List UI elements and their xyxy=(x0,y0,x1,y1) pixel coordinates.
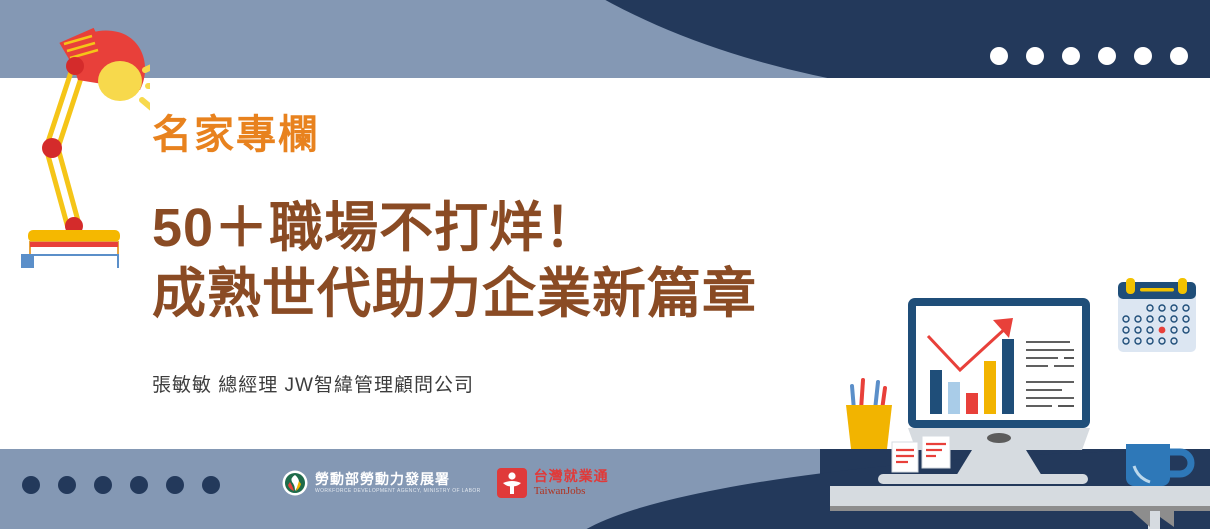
article-banner: 名家專欄 50＋職場不打烊！ 成熟世代助力企業新篇章 張敏敏 總經理 JW智緯管… xyxy=(0,0,1210,529)
page-title-line1: 50＋職場不打烊！ xyxy=(152,196,912,262)
taiwanjobs-name-en: TaiwanJobs xyxy=(534,485,609,497)
calendar-icon xyxy=(1118,278,1196,352)
decor-dot xyxy=(202,476,220,494)
bottom-dot-row xyxy=(22,476,220,494)
decor-dot xyxy=(1062,47,1080,65)
logo-workforce-development-agency[interactable]: 勞動部勞動力發展署 WORKFORCE DEVELOPMENT AGENCY, … xyxy=(282,470,481,496)
wda-name-cn: 勞動部勞動力發展署 xyxy=(315,472,481,487)
author-byline: 張敏敏 總經理 JW智緯管理顧問公司 xyxy=(152,370,912,397)
top-dot-row xyxy=(990,47,1188,65)
taiwanjobs-name-cn: 台灣就業通 xyxy=(534,469,609,484)
taiwanjobs-icon xyxy=(497,468,527,498)
decor-dot xyxy=(58,476,76,494)
kicker-label: 名家專欄 xyxy=(152,112,912,158)
banner-text-block: 名家專欄 50＋職場不打烊！ 成熟世代助力企業新篇章 張敏敏 總經理 JW智緯管… xyxy=(152,112,912,397)
decor-dot xyxy=(990,47,1008,65)
wda-name-en: WORKFORCE DEVELOPMENT AGENCY, MINISTRY O… xyxy=(315,488,481,494)
decor-dot xyxy=(22,476,40,494)
footer-logo-group: 勞動部勞動力發展署 WORKFORCE DEVELOPMENT AGENCY, … xyxy=(282,468,609,498)
page-title-line2: 成熟世代助力企業新篇章 xyxy=(152,262,912,328)
decor-dot xyxy=(1170,47,1188,65)
coffee-mug-icon xyxy=(1126,444,1191,486)
wda-seal-icon xyxy=(282,470,308,496)
desk-lamp-icon xyxy=(0,18,150,268)
decor-dot xyxy=(1134,47,1152,65)
decor-dot xyxy=(1098,47,1116,65)
decor-dot xyxy=(94,476,112,494)
decor-dot xyxy=(166,476,184,494)
decor-dot xyxy=(1026,47,1044,65)
decor-dot xyxy=(130,476,148,494)
logo-taiwanjobs[interactable]: 台灣就業通 TaiwanJobs xyxy=(497,468,609,498)
